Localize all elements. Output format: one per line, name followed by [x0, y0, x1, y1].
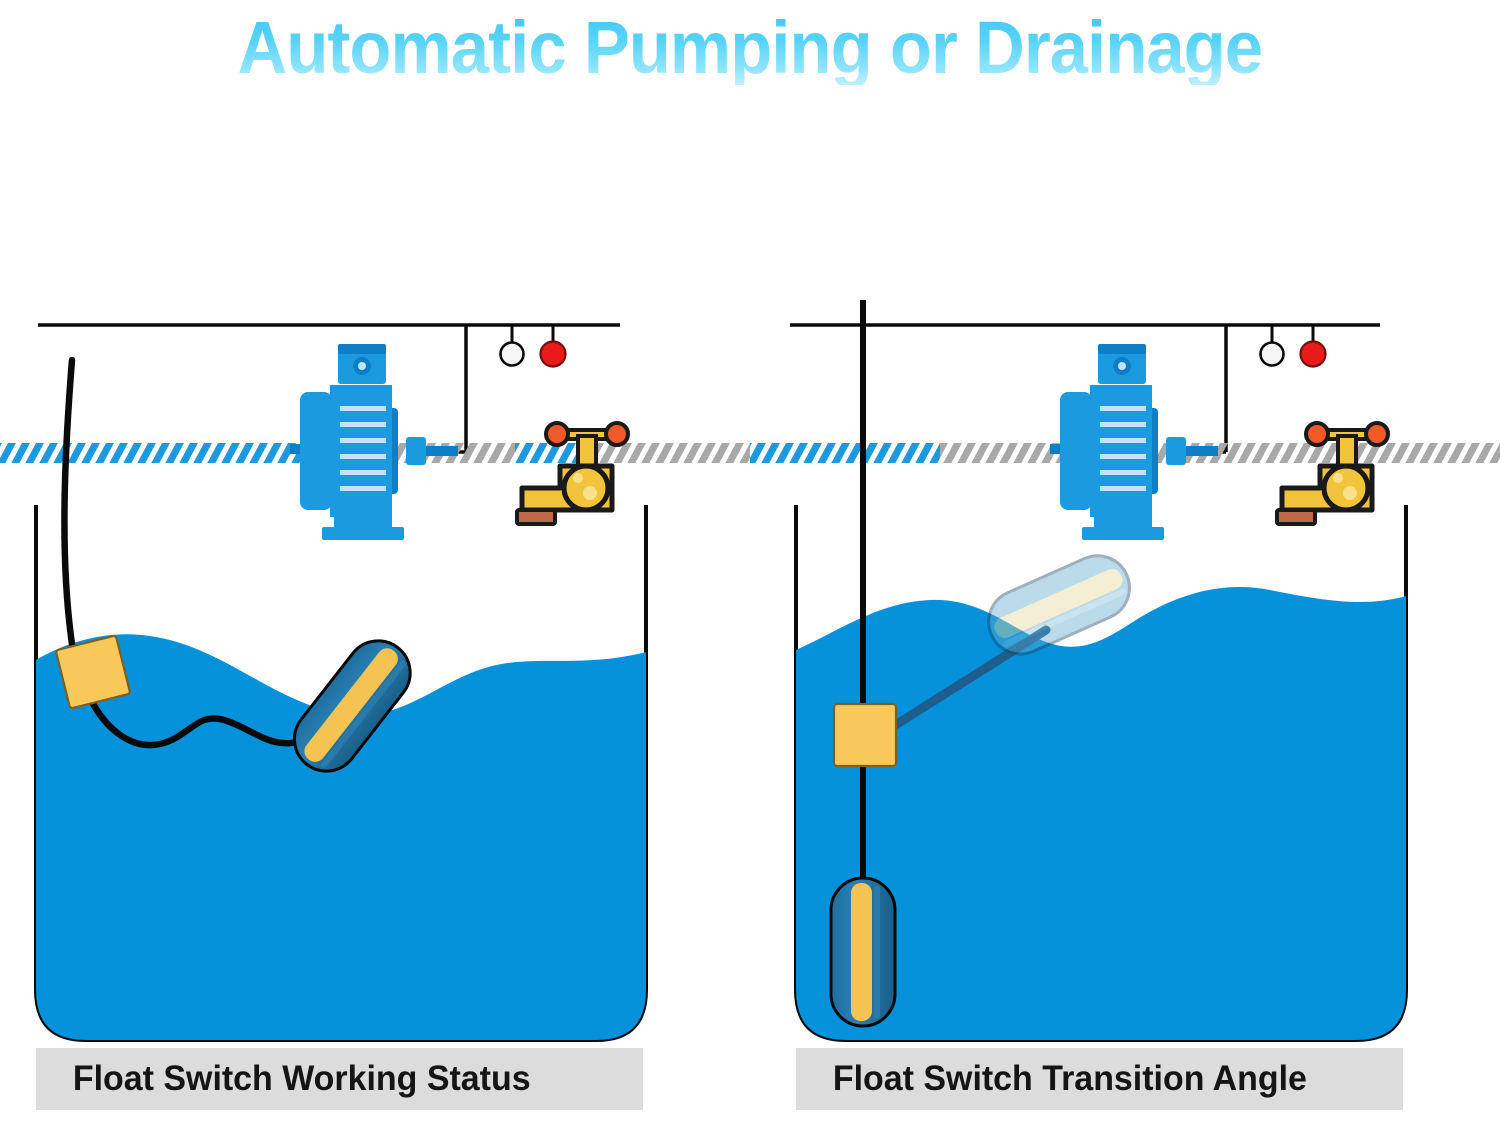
faucet: [517, 423, 628, 524]
motor-wiring: [1192, 325, 1226, 452]
panel-float-switch-working-status: [0, 300, 750, 1060]
motor-wiring: [432, 325, 466, 452]
indicator-lamp-group: [501, 325, 566, 367]
page-title: Automatic Pumping or Drainage: [0, 0, 1500, 95]
electric-motor: [1050, 344, 1218, 540]
indicator-lamp-group: [1261, 325, 1326, 367]
caption-float-switch-transition-angle: Float Switch Transition Angle: [796, 1048, 1403, 1110]
caption-right-text: Float Switch Transition Angle: [796, 1059, 1307, 1099]
caption-float-switch-working-status: Float Switch Working Status: [36, 1048, 643, 1110]
electric-motor: [290, 344, 458, 540]
diagram-canvas: Automatic Pumping or Drainage: [0, 0, 1500, 1140]
indicator-lamp-off[interactable]: [1261, 343, 1284, 366]
caption-left-text: Float Switch Working Status: [36, 1059, 531, 1099]
float-switch-hanging[interactable]: [831, 878, 895, 1026]
cable-counterweight: [834, 704, 896, 766]
panel-float-switch-transition-angle: [750, 300, 1500, 1060]
page-title-text: Automatic Pumping or Drainage: [238, 11, 1263, 85]
indicator-lamp-on[interactable]: [541, 342, 566, 367]
indicator-lamp-off[interactable]: [501, 343, 524, 366]
indicator-lamp-on[interactable]: [1301, 342, 1326, 367]
faucet: [1277, 423, 1388, 524]
